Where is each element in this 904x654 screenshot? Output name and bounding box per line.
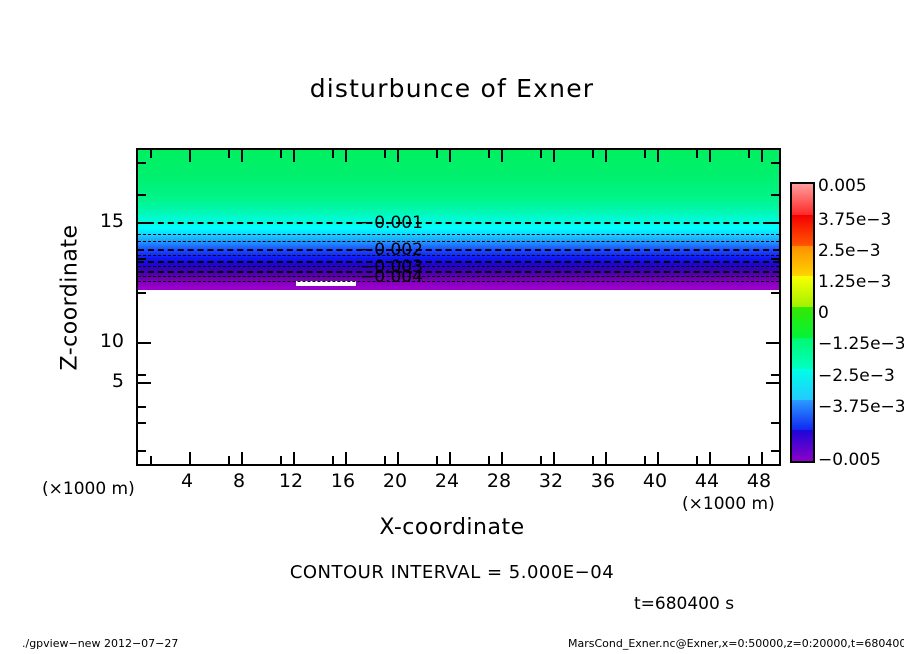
contour-line-0004	[138, 276, 779, 277]
x-tick-top-12	[293, 150, 295, 162]
contour-line-0002	[138, 249, 779, 251]
y-tick-minor	[138, 450, 146, 452]
x-tick-top-minor	[228, 150, 230, 158]
colorbar-label-8: −0.005	[818, 450, 881, 470]
x-tick-top-36	[605, 150, 607, 162]
contour-line-a	[138, 234, 779, 235]
colorbar-label-4: 0	[818, 303, 829, 323]
x-tick-4	[189, 452, 191, 464]
y-tick-label-10: 10	[78, 330, 124, 352]
x-tick-top-4	[189, 150, 191, 162]
colorbar-band-spring	[792, 338, 813, 373]
contour-label-0004: −0.004	[360, 267, 423, 287]
x-tick-top-minor	[748, 150, 750, 158]
x-tick-top-32	[553, 150, 555, 162]
x-tick-top-44	[709, 150, 711, 162]
contour-label-0001: −0.001	[360, 213, 423, 233]
contour-line-e	[138, 271, 779, 273]
x-tick-top-minor	[592, 150, 594, 158]
colorbar-label-7: −3.75e−3	[818, 397, 904, 417]
x-tick-label-40: 40	[625, 470, 685, 492]
colorbar-band-blue	[792, 400, 813, 435]
x-tick-top-16	[345, 150, 347, 162]
contour-line-0001	[138, 222, 779, 224]
y-axis-title: Z-coordinate	[58, 198, 83, 398]
y-tick-minor	[138, 422, 146, 424]
y-tick-minor	[138, 406, 146, 408]
footer-left-text: ./gpview−new 2012−07−27	[22, 637, 178, 650]
y-tick-right-minor	[771, 374, 779, 376]
x-tick-label-12: 12	[261, 470, 321, 492]
x-tick-label-20: 20	[365, 470, 425, 492]
colorbar-band-yellow	[792, 276, 813, 311]
footer-right-text: MarsCond_Exner.nc@Exner,x=0:50000,z=0:20…	[568, 637, 904, 650]
y-tick-10	[138, 342, 151, 344]
colorbar-label-6: −2.5e−3	[818, 366, 895, 386]
x-tick-label-32: 32	[521, 470, 581, 492]
x-tick-minor	[696, 456, 698, 464]
colorbar-band-green	[792, 307, 813, 342]
colorbar-band-cyan	[792, 369, 813, 404]
colorbar-band-red	[792, 184, 813, 219]
y-tick-minor	[138, 258, 146, 260]
x-tick-top-minor	[384, 150, 386, 158]
contour-line-b	[138, 241, 779, 242]
x-tick-label-4: 4	[157, 470, 217, 492]
y-tick-right-minor	[771, 194, 779, 196]
x-tick-top-8	[241, 150, 243, 162]
plot-area: −0.001 −0.002 −0.003 −0.004	[136, 148, 781, 466]
x-tick-44	[709, 452, 711, 464]
page-title: disturbunce of Exner	[0, 74, 904, 103]
y-tick-right-minor	[771, 292, 779, 294]
x-tick-label-16: 16	[313, 470, 373, 492]
x-tick-top-minor	[150, 150, 152, 158]
x-tick-minor	[332, 456, 334, 464]
x-tick-8	[241, 452, 243, 464]
x-tick-label-24: 24	[417, 470, 477, 492]
colorbar	[790, 182, 815, 463]
colorbar-label-1: 3.75e−3	[818, 210, 891, 230]
x-tick-36	[605, 452, 607, 464]
contour-line-c	[138, 255, 779, 256]
y-tick-minor	[138, 374, 146, 376]
x-tick-28	[501, 452, 503, 464]
y-tick-right-10	[766, 342, 779, 344]
x-tick-top-20	[397, 150, 399, 162]
x-tick-minor	[384, 456, 386, 464]
x-axis-unit-label: (×1000 m)	[682, 494, 775, 514]
contour-line-f	[138, 281, 779, 282]
y-tick-minor	[138, 292, 146, 294]
y-tick-minor	[138, 162, 146, 164]
colorbar-label-3: 1.25e−3	[818, 272, 891, 292]
x-tick-top-40	[657, 150, 659, 162]
x-tick-top-minor	[696, 150, 698, 158]
y-tick-right-5	[766, 382, 779, 384]
x-tick-48	[761, 452, 763, 464]
contour-fill-region	[138, 150, 779, 290]
x-tick-label-28: 28	[469, 470, 529, 492]
colorbar-label-5: −1.25e−3	[818, 334, 904, 354]
x-tick-label-48: 48	[729, 470, 789, 492]
y-tick-label-15: 15	[78, 210, 124, 232]
contour-line-0003	[138, 266, 779, 267]
x-tick-minor	[436, 456, 438, 464]
y-tick-right-minor	[771, 258, 779, 260]
x-tick-top-28	[501, 150, 503, 162]
colorbar-band-violet	[792, 430, 813, 461]
x-tick-24	[449, 452, 451, 464]
x-tick-label-8: 8	[209, 470, 269, 492]
x-tick-32	[553, 452, 555, 464]
timestamp-label: t=680400 s	[634, 594, 734, 614]
y-tick-minor	[138, 194, 146, 196]
y-tick-right-minor	[771, 450, 779, 452]
x-tick-minor	[150, 456, 152, 464]
x-tick-minor	[592, 456, 594, 464]
y-tick-15	[138, 222, 151, 224]
x-tick-20	[397, 452, 399, 464]
x-tick-label-44: 44	[677, 470, 737, 492]
contour-interval-note: CONTOUR INTERVAL = 5.000E−04	[0, 562, 904, 583]
y-tick-right-minor	[771, 422, 779, 424]
y-tick-5	[138, 382, 151, 384]
x-tick-40	[657, 452, 659, 464]
y-tick-right-15	[766, 222, 779, 224]
colorbar-label-0: 0.005	[818, 176, 867, 196]
colorbar-band-red-orange	[792, 215, 813, 250]
y-tick-label-5: 5	[78, 370, 124, 392]
x-tick-16	[345, 452, 347, 464]
x-tick-minor	[540, 456, 542, 464]
contour-line-d	[138, 261, 779, 263]
y-tick-right-minor	[771, 162, 779, 164]
x-tick-top-minor	[280, 150, 282, 158]
x-tick-minor	[644, 456, 646, 464]
x-tick-minor	[748, 456, 750, 464]
x-tick-12	[293, 452, 295, 464]
x-tick-top-minor	[488, 150, 490, 158]
x-tick-top-48	[761, 150, 763, 162]
colorbar-band-orange	[792, 246, 813, 281]
y-axis-unit-label: (×1000 m)	[42, 479, 135, 499]
x-tick-top-minor	[644, 150, 646, 158]
x-axis-title: X-coordinate	[0, 515, 904, 540]
colorbar-label-2: 2.5e−3	[818, 241, 881, 261]
x-tick-label-36: 36	[573, 470, 633, 492]
x-tick-top-minor	[332, 150, 334, 158]
x-tick-top-minor	[436, 150, 438, 158]
x-tick-minor	[228, 456, 230, 464]
x-tick-top-24	[449, 150, 451, 162]
x-tick-minor	[280, 456, 282, 464]
x-tick-top-minor	[540, 150, 542, 158]
x-tick-minor	[488, 456, 490, 464]
